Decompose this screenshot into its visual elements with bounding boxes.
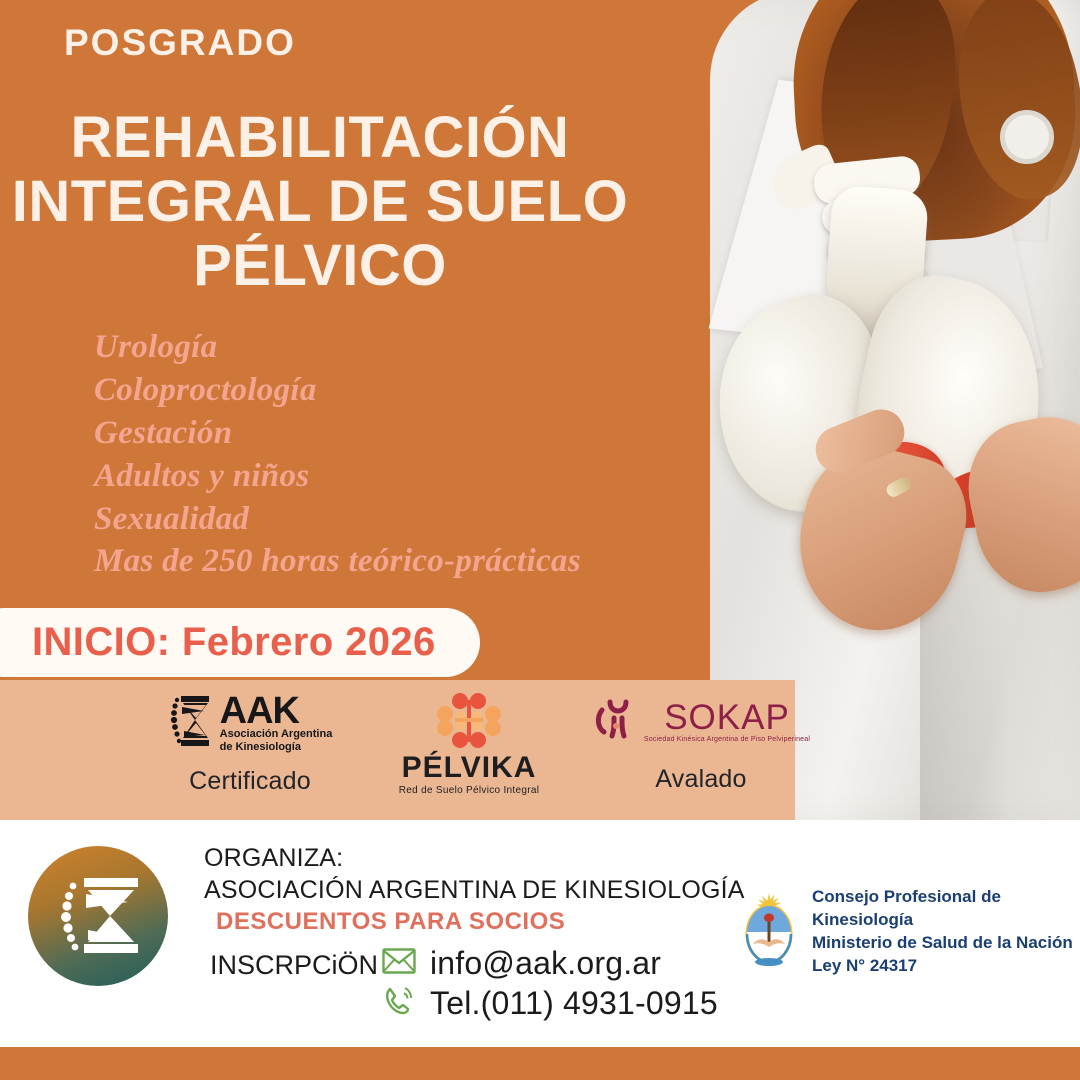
title-line-2: INTEGRAL DE SUELO bbox=[0, 170, 640, 234]
pelvis-model bbox=[710, 150, 1040, 570]
email-contact-row[interactable]: info@aak.org.ar bbox=[382, 945, 661, 982]
logo-pelvika: PÉLVIKA Red de Suelo Pélvico Integral bbox=[374, 692, 564, 796]
seal-line-3: Ley N° 24317 bbox=[812, 955, 1080, 978]
phone-contact-row[interactable]: Tel.(011) 4931-0915 bbox=[382, 985, 718, 1022]
title-line-3: PÉLVICO bbox=[0, 234, 640, 298]
start-date-text: INICIO: Febrero 2026 bbox=[32, 620, 436, 664]
aak-sub-line-1: Asociación Argentina bbox=[220, 728, 333, 741]
inscription-label: INSCRPCiÖN bbox=[210, 950, 378, 981]
topic-item: Urología bbox=[94, 326, 654, 369]
topic-item: Gestación bbox=[94, 412, 654, 455]
topic-list: Urología Coloproctología Gestación Adult… bbox=[94, 326, 654, 583]
aak-sub-line-2: de Kinesiología bbox=[220, 741, 333, 754]
aak-caption: Certificado bbox=[100, 767, 400, 796]
topic-item: Coloproctología bbox=[94, 369, 654, 412]
discount-note: DESCUENTOS PARA SOCIOS bbox=[216, 908, 565, 936]
bottom-accent-bar bbox=[0, 1047, 1080, 1080]
pelvika-tagline: Red de Suelo Pélvico Integral bbox=[374, 785, 564, 796]
pelvika-flower-icon bbox=[430, 735, 508, 752]
organiza-label: ORGANIZA: bbox=[204, 842, 745, 874]
logo-sokap: SOKAP Sociedad Kinésica Argentina de Pis… bbox=[586, 696, 816, 794]
phone-number[interactable]: Tel.(011) 4931-0915 bbox=[430, 985, 718, 1022]
kicker-label: POSGRADO bbox=[64, 22, 296, 64]
sokap-caption: Avalado bbox=[586, 765, 816, 794]
sokap-figure-icon bbox=[592, 696, 640, 747]
topic-item: Mas de 250 horas teórico-prácticas bbox=[94, 540, 654, 583]
envelope-icon bbox=[382, 948, 416, 979]
argentina-coat-of-arms-icon bbox=[738, 892, 800, 971]
poster-canvas: POSGRADO REHABILITACIÓN INTEGRAL DE SUEL… bbox=[0, 0, 1080, 1080]
seal-line-1: Consejo Profesional de Kinesiología bbox=[812, 886, 1080, 932]
start-date-badge: INICIO: Febrero 2026 bbox=[0, 608, 480, 677]
topic-item: Adultos y niños bbox=[94, 455, 654, 498]
aak-hourglass-icon bbox=[168, 694, 212, 753]
organiza-block: ORGANIZA: ASOCIACIÓN ARGENTINA DE KINESI… bbox=[204, 842, 745, 906]
organiza-value: ASOCIACIÓN ARGENTINA DE KINESIOLOGÍA bbox=[204, 874, 745, 906]
government-seal-block: Consejo Profesional de Kinesiología Mini… bbox=[738, 886, 1080, 978]
topic-item: Sexualidad bbox=[94, 498, 654, 541]
phone-icon bbox=[382, 985, 416, 1022]
title-line-1: REHABILITACIÓN bbox=[0, 106, 640, 170]
page-title: REHABILITACIÓN INTEGRAL DE SUELO PÉLVICO bbox=[0, 106, 640, 297]
pelvika-name: PÉLVIKA bbox=[374, 753, 564, 783]
sokap-name: SOKAP bbox=[664, 698, 790, 737]
aak-acronym: AAK bbox=[220, 690, 299, 732]
logo-aak: AAK Asociación Argentina de Kinesiología… bbox=[100, 694, 400, 796]
seal-line-2: Ministerio de Salud de la Nación bbox=[812, 932, 1080, 955]
email-address[interactable]: info@aak.org.ar bbox=[430, 945, 661, 982]
aak-circle-logo bbox=[28, 846, 168, 986]
sokap-tagline: Sociedad Kinésica Argentina de Piso Pelv… bbox=[644, 736, 810, 743]
